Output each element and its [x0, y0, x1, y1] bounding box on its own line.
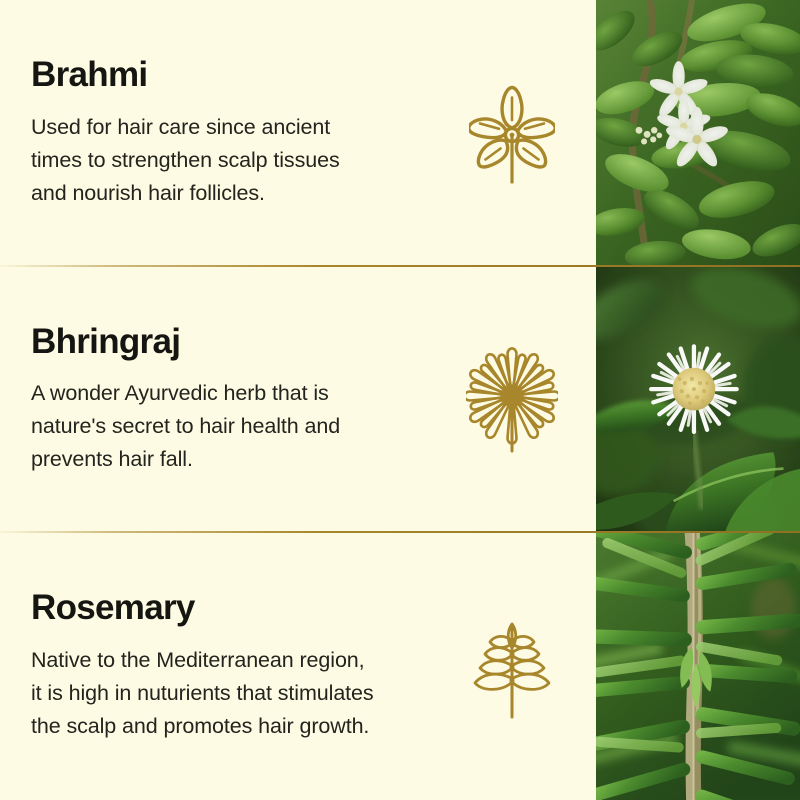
herb-panel-rosemary: Rosemary Native to the Mediterranean reg… [0, 533, 800, 800]
text-block-rosemary: Rosemary Native to the Mediterranean reg… [0, 590, 446, 743]
rosemary-photo-graphic [596, 533, 800, 800]
brahmi-plant-photo [596, 0, 800, 267]
herb-title-brahmi: Brahmi [31, 57, 436, 94]
herb-benefits-infographic: Brahmi Used for hair care since ancient … [0, 0, 800, 800]
icon-container-bhringraj [446, 346, 596, 454]
herb-panel-brahmi: Brahmi Used for hair care since ancient … [0, 0, 800, 267]
herb-title-rosemary: Rosemary [31, 590, 436, 627]
divider-2 [0, 531, 800, 533]
five-petal-flower-icon [469, 81, 555, 185]
daisy-flower-icon [466, 346, 558, 454]
daisy-center [501, 385, 523, 407]
panel-content-bhringraj: Bhringraj A wonder Ayurvedic herb that i… [0, 267, 596, 534]
herb-title-bhringraj: Bhringraj [31, 324, 436, 361]
herb-description-bhringraj: A wonder Ayurvedic herb that is nature's… [31, 377, 376, 476]
icon-container-rosemary [446, 614, 596, 720]
brahmi-photo-graphic [596, 0, 800, 267]
rosemary-plant-photo [596, 533, 800, 800]
text-block-bhringraj: Bhringraj A wonder Ayurvedic herb that i… [0, 324, 446, 477]
text-block-brahmi: Brahmi Used for hair care since ancient … [0, 57, 446, 210]
herb-description-brahmi: Used for hair care since ancient times t… [31, 111, 376, 210]
panel-content-rosemary: Rosemary Native to the Mediterranean reg… [0, 533, 596, 800]
bhringraj-plant-photo [596, 267, 800, 534]
herb-description-rosemary: Native to the Mediterranean region, it i… [31, 644, 376, 743]
icon-container-brahmi [446, 81, 596, 185]
bhringraj-photo-graphic [596, 267, 800, 534]
herb-panel-bhringraj: Bhringraj A wonder Ayurvedic herb that i… [0, 267, 800, 534]
panel-content-brahmi: Brahmi Used for hair care since ancient … [0, 0, 596, 267]
rosemary-leaf-icon [470, 614, 554, 720]
divider-1 [0, 265, 800, 267]
